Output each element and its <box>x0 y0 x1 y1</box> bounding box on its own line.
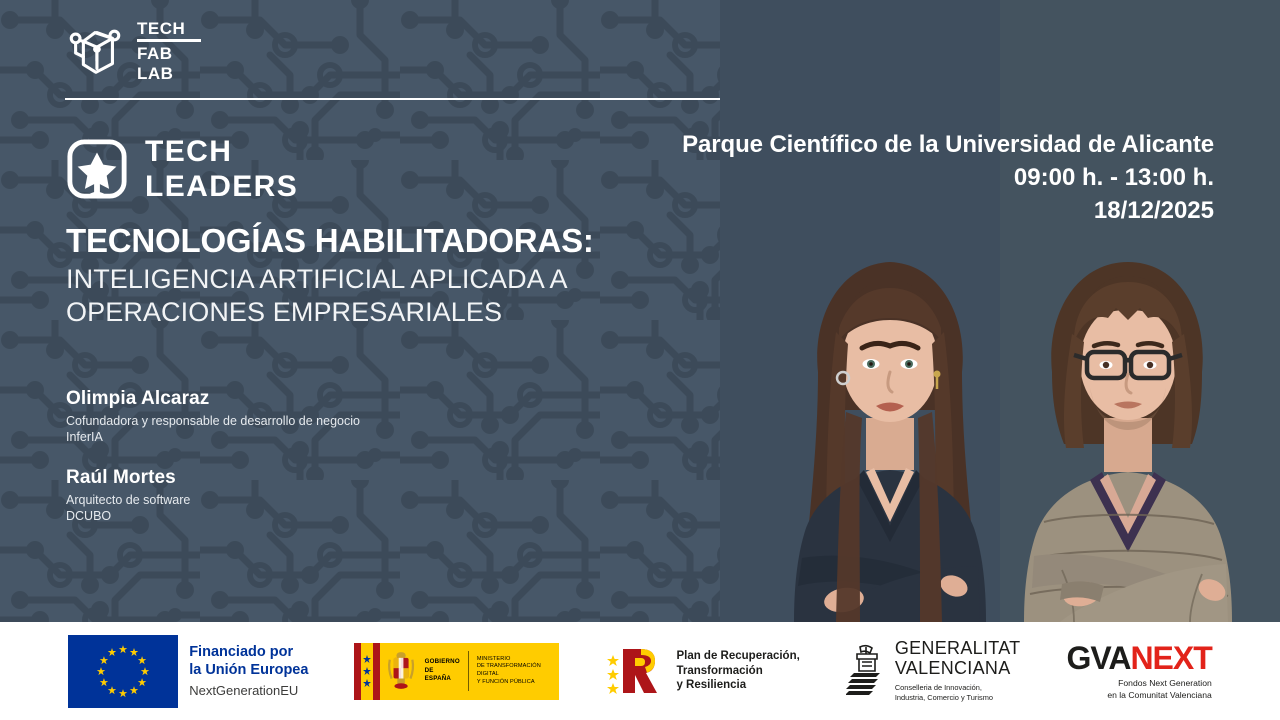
event-subtitle-line1: INTELIGENCIA ARTIFICIAL APLICADA A <box>66 263 594 296</box>
speaker-item: Olimpia Alcaraz Cofundadora y responsabl… <box>66 388 360 445</box>
generalitat-sub-line2: Industria, Comercio y Turismo <box>895 693 1021 703</box>
star-in-rounded-square-icon <box>66 138 128 200</box>
gvanext-subtitle: Fondos Next Generation en la Comunitat V… <box>1066 678 1211 701</box>
ministry-text: MINISTERIO DE TRANSFORMACIÓN DIGITAL Y F… <box>477 656 560 687</box>
speaker-org: DCUBO <box>66 508 360 524</box>
event-subtitle: INTELIGENCIA ARTIFICIAL APLICADA A OPERA… <box>66 263 594 329</box>
plan-line2: Transformación <box>676 664 799 679</box>
tech-leaders-line2: LEADERS <box>145 169 298 204</box>
plan-pr-monogram-icon <box>605 645 667 697</box>
speaker-name: Olimpia Alcaraz <box>66 388 360 410</box>
eu-text-line3: NextGenerationEU <box>189 683 308 698</box>
gobierno-line2: DE ESPAÑA <box>425 667 460 684</box>
generalitat-line1: GENERALITAT <box>895 639 1021 658</box>
speakers-list: Olimpia Alcaraz Cofundadora y responsabl… <box>66 388 360 524</box>
techfablab-rule-1 <box>137 39 201 42</box>
event-date: 18/12/2025 <box>682 197 1214 225</box>
speaker-portrait-raul-mortes <box>970 222 1280 622</box>
gvanext-black-part: GVA <box>1066 640 1130 677</box>
techfablab-line1: TECH <box>137 18 201 38</box>
gobierno-espana-logo: GOBIERNO DE ESPAÑA MINISTERIO DE TRANSFO… <box>354 643 559 700</box>
spain-flag-icon <box>354 643 380 700</box>
generalitat-sub-line1: Conselleria de Innovación, <box>895 683 1021 693</box>
event-time: 09:00 h. - 13:00 h. <box>682 164 1214 192</box>
speaker-role: Arquitecto de software <box>66 492 360 508</box>
eu-text-line2: la Unión Europea <box>189 662 308 680</box>
eu-funding-logo: Financiado por la Unión Europea NextGene… <box>68 635 308 708</box>
speaker-org: InferIA <box>66 429 360 445</box>
gobierno-line1: GOBIERNO <box>425 658 460 666</box>
gvanext-red-part: NEXT <box>1130 640 1211 677</box>
tech-leaders-line1: TECH <box>145 134 298 169</box>
page-title: TECNOLOGÍAS HABILITADORAS: <box>66 222 594 260</box>
techfablab-line2: FAB <box>137 43 201 63</box>
eu-text-line1: Financiado por <box>189 644 308 662</box>
gobierno-separator <box>468 651 469 691</box>
generalitat-line2: VALENCIANA <box>895 659 1021 678</box>
gvanext-logo: GVA NEXT Fondos Next Generation en la Co… <box>1066 640 1211 701</box>
event-subtitle-line2: OPERACIONES EMPRESARIALES <box>66 296 594 329</box>
cube-node-icon <box>64 20 126 82</box>
eu-flag-icon <box>68 635 178 708</box>
spain-coat-of-arms-icon <box>386 649 416 693</box>
eu-logo-text: Financiado por la Unión Europea NextGene… <box>189 644 308 698</box>
generalitat-valenciana-logo: GENERALITAT VALENCIANA Conselleria de In… <box>846 639 1021 702</box>
event-title-block: TECNOLOGÍAS HABILITADORAS: INTELIGENCIA … <box>66 222 594 330</box>
plan-line3: y Resiliencia <box>676 678 799 693</box>
techfablab-wordmark: TECH FAB LAB <box>137 18 201 83</box>
ministry-line3: Y FUNCIÓN PÚBLICA <box>477 679 560 687</box>
event-poster: TECH FAB LAB Comunidad Valenciana <box>0 0 1280 720</box>
speaker-role: Cofundadora y responsable de desarrollo … <box>66 413 360 429</box>
techfablab-line3: LAB <box>137 63 201 83</box>
speaker-item: Raúl Mortes Arquitecto de software DCUBO <box>66 467 360 524</box>
gobierno-text: GOBIERNO DE ESPAÑA <box>425 658 460 683</box>
speaker-photos <box>700 0 1280 622</box>
techfablab-logo: TECH FAB LAB <box>64 18 201 83</box>
tech-leaders-logo: TECH LEADERS <box>66 134 298 205</box>
generalitat-crest-icon <box>846 643 886 699</box>
plan-recuperacion-logo: Plan de Recuperación, Transformación y R… <box>605 645 799 697</box>
event-venue: Parque Científico de la Universidad de A… <box>682 131 1214 159</box>
tech-leaders-wordmark: TECH LEADERS <box>145 134 298 205</box>
plan-line1: Plan de Recuperación, <box>676 649 799 664</box>
ministry-line2: DE TRANSFORMACIÓN DIGITAL <box>477 663 560 678</box>
gvanext-sub-line2: en la Comunitat Valenciana <box>1066 690 1211 702</box>
funding-logos-footer: Financiado por la Unión Europea NextGene… <box>0 622 1280 720</box>
speaker-name: Raúl Mortes <box>66 467 360 489</box>
generalitat-text: GENERALITAT VALENCIANA Conselleria de In… <box>895 639 1021 702</box>
event-details: Parque Científico de la Universidad de A… <box>682 131 1214 225</box>
plan-text: Plan de Recuperación, Transformación y R… <box>676 649 799 694</box>
gvanext-sub-line1: Fondos Next Generation <box>1066 678 1211 690</box>
